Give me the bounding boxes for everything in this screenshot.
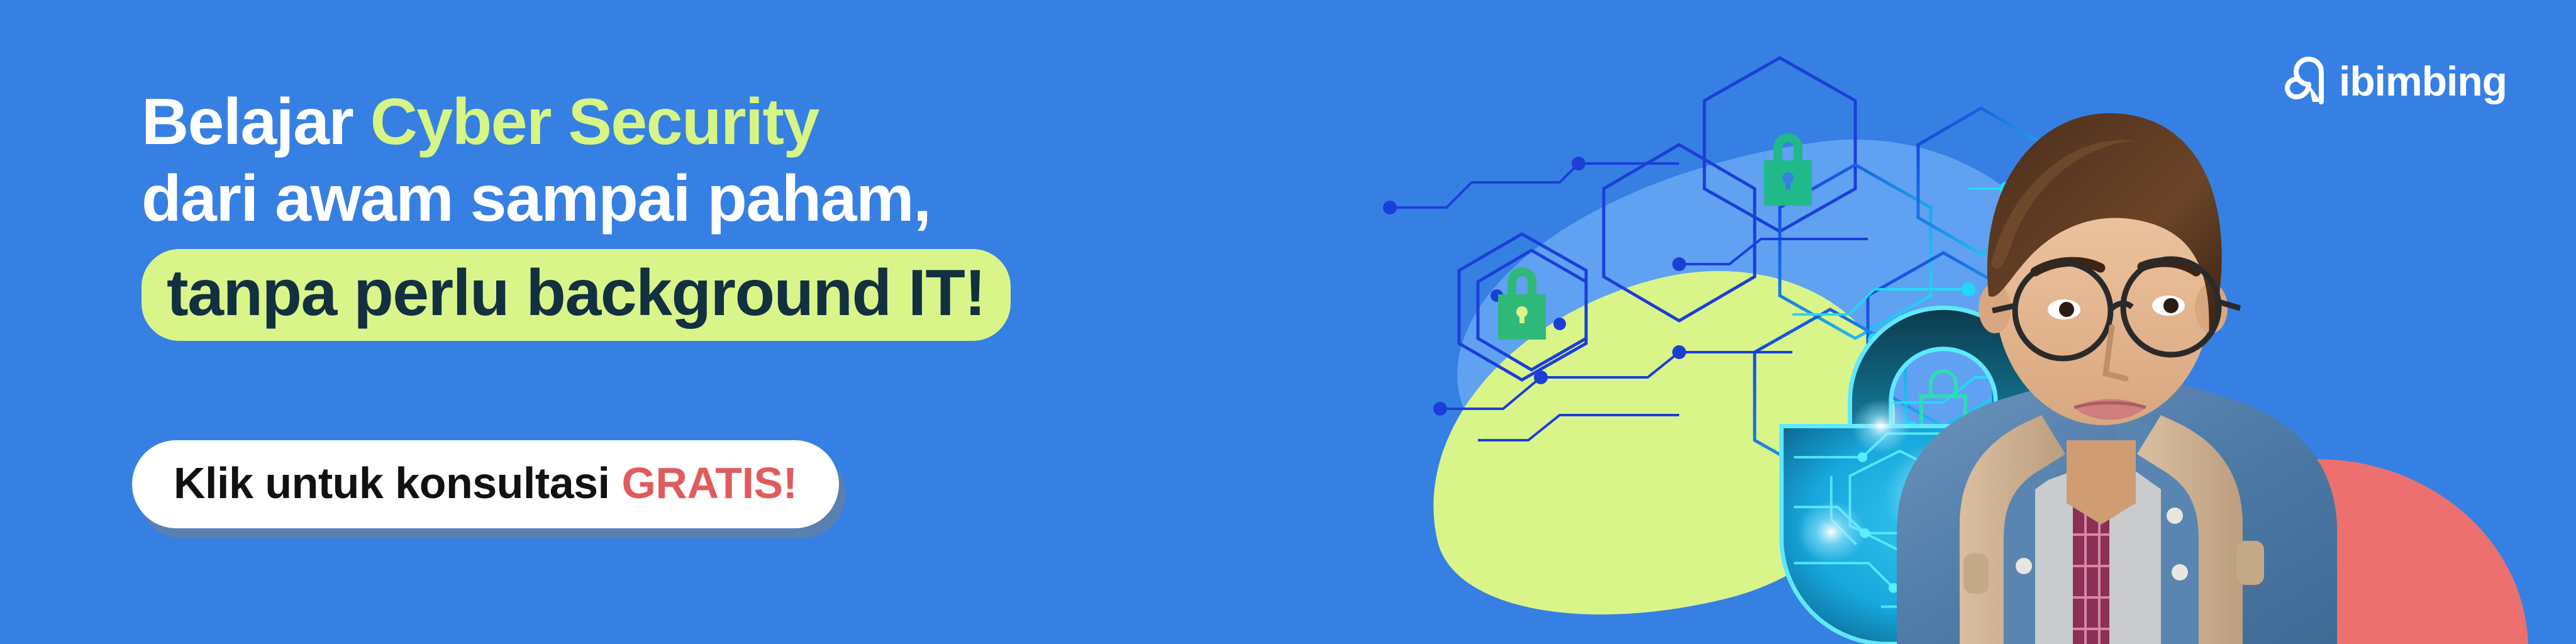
green-padlock-icon [1498,267,1546,340]
headline-line-2: dari awam sampai paham, [142,165,1336,233]
cta-label-free: GRATIS! [621,458,797,508]
headline-line-3-highlight: tanpa perlu background IT! [142,249,1011,341]
headline-line-1-accent: Cyber Security [370,86,819,158]
consultation-cta-button[interactable]: Klik untuk konsultasi GRATIS! [132,440,839,528]
headline-line-1: Belajar Cyber Security [142,88,1336,156]
brand-wordmark: ibimbing [2339,60,2507,102]
cta-label-plain: Klik untuk konsultasi [174,458,621,508]
cta-wrapper: Klik untuk konsultasi GRATIS! [132,440,839,528]
promo-banner: Belajar Cyber Security dari awam sampai … [0,0,2576,644]
headline-block: Belajar Cyber Security dari awam sampai … [142,88,1336,341]
ibimbing-logo-mark [2284,55,2330,107]
headline-line-1-plain: Belajar [142,86,370,158]
brand-logo[interactable]: ibimbing [2284,55,2507,107]
